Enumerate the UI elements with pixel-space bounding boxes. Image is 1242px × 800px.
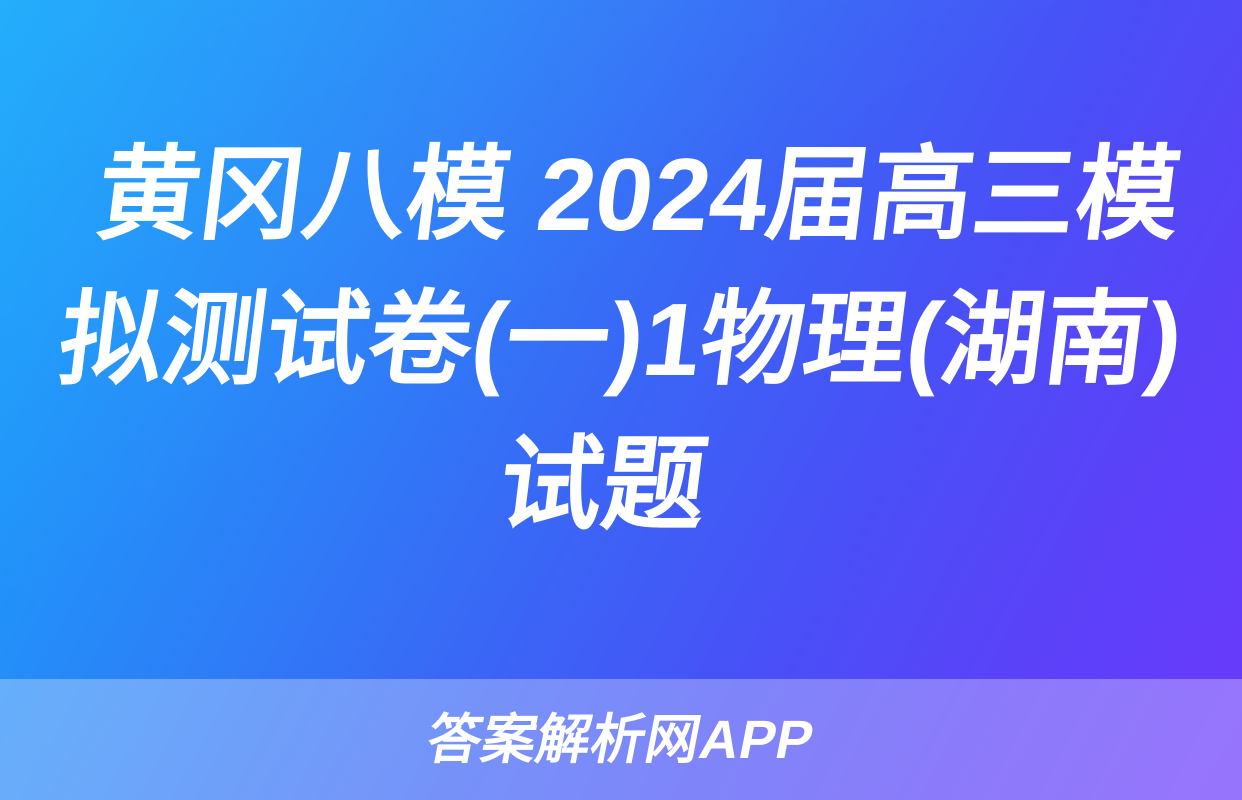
banner-title: 黄冈八模 2024届高三模拟测试卷(一)1物理(湖南)试题 <box>25 122 1216 557</box>
promo-banner: 黄冈八模 2024届高三模拟测试卷(一)1物理(湖南)试题 答案解析网APP <box>0 0 1242 800</box>
title-area: 黄冈八模 2024届高三模拟测试卷(一)1物理(湖南)试题 <box>0 0 1242 679</box>
footer-watermark-band: 答案解析网APP <box>0 679 1242 800</box>
app-wordmark: 答案解析网APP <box>423 713 819 767</box>
